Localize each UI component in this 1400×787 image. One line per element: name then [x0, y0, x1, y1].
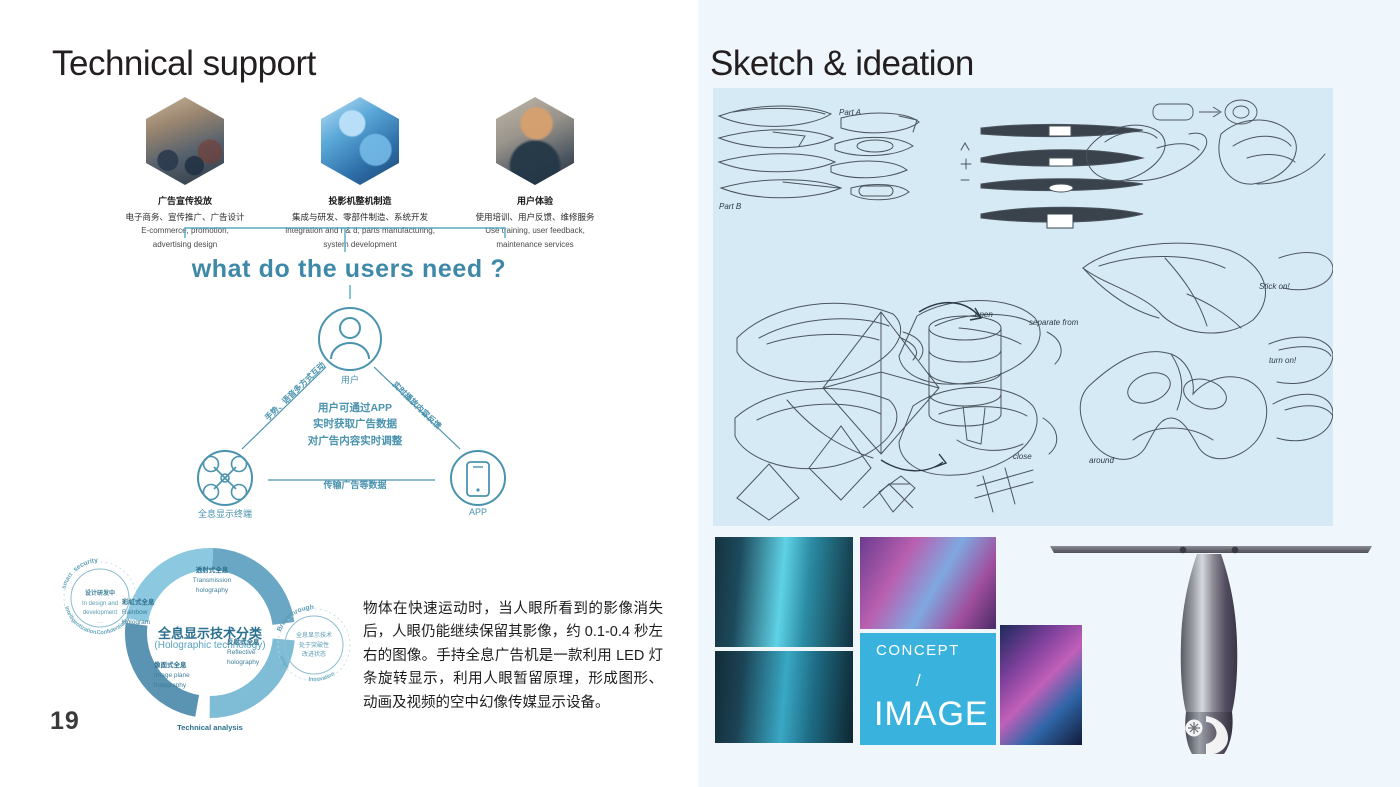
support-card-user-experience[interactable]: 用户体验 使用培训、用户反馈、维修服务 Use training, user f…	[450, 97, 620, 251]
body-paragraph: 物体在快速运动时，当人眼所看到的影像消失后，人眼仍能继续保留其影像，约 0.1-…	[363, 598, 663, 715]
badge-left-text: 设计研发中 In design and development ···	[68, 590, 132, 628]
support-card-manufacturing[interactable]: 投影机整机制造 集成与研发、零部件制造、系统开发 Integration and…	[275, 97, 445, 251]
sketch-note-separate-from: separate from	[1029, 318, 1078, 327]
sketch-note-open: open	[975, 310, 993, 319]
sketch-note-stick-on: Stick on!	[1259, 282, 1290, 291]
center-line-2: 实时获取广告数据	[270, 416, 440, 432]
donut-label-cn: 透射式全息	[174, 566, 250, 576]
support-card-en-line2: system development	[275, 239, 445, 251]
badge-right-cn1: 全息显示技术	[282, 632, 346, 642]
product-blade-pivot-left	[1180, 547, 1187, 553]
sketch-note-part-a: Part A	[839, 108, 861, 117]
support-card-en-line2: advertising design	[100, 239, 270, 251]
badge-left-ring-left: smart	[61, 572, 74, 590]
center-line-1: 用户可通过APP	[270, 400, 440, 416]
sketch-note-part-b: Part B	[719, 202, 741, 211]
triangle-node-user-label: 用户	[300, 373, 400, 386]
hexagon-photo-team-meeting	[146, 97, 224, 185]
donut-label-en1: Image plane	[154, 672, 190, 679]
triangle-center-description: 用户可通过APP 实时获取广告数据 对广告内容实时调整	[270, 400, 440, 449]
badge-right-cn3: 改进状态	[282, 651, 346, 661]
badge-left-en2: development	[68, 609, 132, 619]
right-panel: Sketch & ideation	[698, 0, 1400, 787]
donut-label-en1: Reflective	[227, 649, 256, 656]
donut-label-en2: holography	[196, 587, 228, 594]
support-card-cn: 使用培训、用户反馈、维修服务	[450, 211, 620, 223]
sketch-note-close: close	[1013, 452, 1032, 461]
sketch-note-turn-on: turn on!	[1269, 356, 1296, 365]
badge-right-text: 全息显示技术 处于突破性 改进状态	[282, 632, 346, 661]
concept-line-3: IMAGE	[874, 695, 989, 734]
hexagon-photo-user-portrait	[496, 97, 574, 185]
support-card-cn: 集成与研发、零部件制造、系统开发	[275, 211, 445, 223]
product-render-holographic-fan	[1028, 530, 1393, 760]
product-blade-pivot-right	[1232, 547, 1239, 553]
support-card-cn: 电子商务、宣传推广、广告设计	[100, 211, 270, 223]
triangle-edge-bottom-label: 传输广告等数据	[295, 478, 415, 491]
center-line-3: 对广告内容实时调整	[270, 433, 440, 449]
slide-page: Technical support 广告宣传投放 电子商务、宣传推广、广告设计 …	[0, 0, 1400, 787]
holographic-classification-donut: security smart Intelligentization Confid…	[42, 528, 372, 748]
support-card-en-line2: maintenance services	[450, 239, 620, 251]
support-card-title: 广告宣传投放	[100, 194, 270, 207]
donut-label-cn: 像面式全息	[154, 661, 224, 671]
concept-line-2: /	[916, 671, 921, 691]
thumbnail-concept-image-card[interactable]: CONCEPT / IMAGE	[860, 633, 996, 745]
triangle-node-app-label: APP	[428, 507, 528, 517]
badge-left-cn: 设计研发中	[68, 590, 132, 600]
donut-label-transmission: 透射式全息 Transmission holography	[174, 566, 250, 595]
thumbnail-city-hologram-sphere[interactable]	[715, 651, 853, 743]
thumbnail-city-light-beam[interactable]	[715, 537, 853, 647]
badge-left-ring-top: security	[72, 557, 98, 573]
page-title-sketch-ideation: Sketch & ideation	[710, 44, 974, 84]
page-title-technical-support: Technical support	[52, 44, 316, 84]
need-question-heading: what do the users need ?	[0, 255, 698, 284]
support-card-en-line1: Integration and r & d, parts manufacturi…	[275, 225, 445, 237]
page-number: 19	[50, 707, 80, 736]
concept-line-1: CONCEPT	[876, 642, 960, 659]
badge-left-en3: ···	[68, 619, 132, 629]
thumbnail-abstract-purple-light[interactable]	[860, 537, 996, 629]
support-card-en-line1: Use training, user feedback,	[450, 225, 620, 237]
donut-label-en2: holography	[154, 682, 186, 689]
donut-label-image-plane: 像面式全息 Image plane holography	[154, 661, 224, 690]
donut-label-en2: holography	[227, 659, 259, 666]
donut-label-en1: Transmission	[193, 577, 231, 584]
sketch-board: Part A Part B open separate from turn on…	[713, 88, 1333, 526]
triangle-node-terminal-label: 全息显示终端	[175, 507, 275, 520]
donut-bottom-label: Technical analysis	[130, 723, 290, 732]
product-render-svg	[1028, 530, 1393, 760]
user-relationship-diagram: 手势、语音多方式互动 实时播放内容反馈 用户 全息显示终端 APP 用户可通过A…	[150, 285, 550, 535]
concept-card-text: CONCEPT / IMAGE	[860, 633, 996, 745]
support-card-en-line1: E-commerce, promotion,	[100, 225, 270, 237]
support-card-row: 广告宣传投放 电子商务、宣传推广、广告设计 E-commerce, promot…	[100, 97, 620, 237]
support-card-advertising[interactable]: 广告宣传投放 电子商务、宣传推广、广告设计 E-commerce, promot…	[100, 97, 270, 251]
left-panel: Technical support 广告宣传投放 电子商务、宣传推广、广告设计 …	[0, 0, 698, 787]
support-card-title: 用户体验	[450, 194, 620, 207]
support-card-title: 投影机整机制造	[275, 194, 445, 207]
sketch-note-around: around	[1089, 456, 1114, 465]
hexagon-photo-factory-robot	[321, 97, 399, 185]
product-body	[1181, 554, 1238, 712]
badge-right-cn2: 处于突破性	[282, 642, 346, 652]
product-blade-bar	[1050, 546, 1372, 553]
badge-left-en1: In design and	[68, 600, 132, 610]
